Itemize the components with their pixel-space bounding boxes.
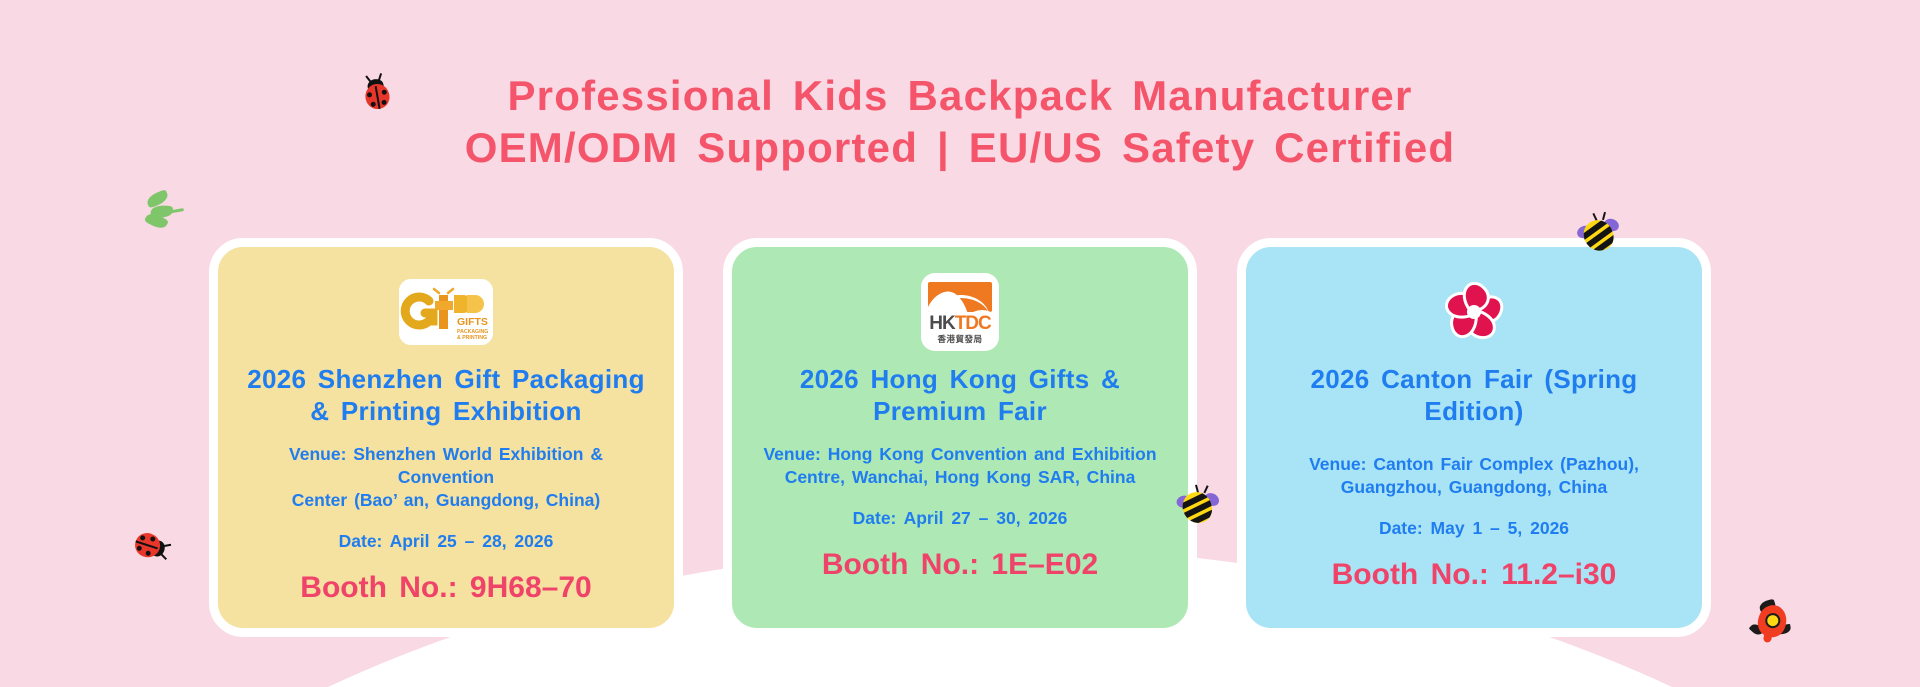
card-title-line-1: 2026 Canton Fair (Spring Edition)	[1311, 364, 1638, 426]
card-venue-line-2: Guangzhou, Guangdong, China	[1341, 477, 1607, 497]
card-venue-line-1: Venue: Hong Kong Convention and Exhibiti…	[763, 444, 1156, 464]
card-booth-number: Booth No.: 9H68–70	[300, 570, 591, 606]
card-date: Date: May 1 – 5, 2026	[1379, 517, 1569, 539]
canton-fair-flower-logo	[1436, 274, 1512, 350]
hktdc-mark	[928, 282, 992, 312]
logo-wrap: GIFTS PACKAGING & PRINTING	[399, 271, 493, 353]
card-title: 2026 Canton Fair (Spring Edition)	[1264, 363, 1684, 427]
page-title: Professional Kids Backpack Manufacturer …	[0, 70, 1920, 174]
bee-sticker-top-right	[1576, 212, 1620, 256]
card-title: 2026 Shenzhen Gift Packaging & Printing …	[239, 363, 653, 427]
exhibition-card-hong-kong[interactable]: HKTDC 香港貿發局 2026 Hong Kong Gifts & Premi…	[723, 238, 1197, 637]
card-title-line-2: & Printing Exhibition	[310, 396, 581, 426]
svg-text:& PRINTING: & PRINTING	[457, 335, 487, 341]
exhibition-card-list: GIFTS PACKAGING & PRINTING 2026 Shenzhen…	[0, 238, 1920, 637]
card-venue-line-2: Center (Bao’ an, Guangdong, China)	[292, 490, 600, 510]
logo-wrap	[1436, 271, 1512, 353]
card-booth-number: Booth No.: 11.2–i30	[1332, 557, 1617, 593]
hktdc-chinese-text: 香港貿發局	[937, 334, 982, 344]
card-venue: Venue: Canton Fair Complex (Pazhou), Gua…	[1305, 453, 1643, 499]
logo-wrap: HKTDC 香港貿發局	[921, 271, 999, 353]
card-title: 2026 Hong Kong Gifts & Premium Fair	[792, 363, 1128, 427]
poster-stage: Professional Kids Backpack Manufacturer …	[0, 0, 1920, 687]
svg-text:GIFTS: GIFTS	[457, 316, 488, 328]
card-booth-number: Booth No.: 1E–E02	[822, 547, 1098, 583]
card-date: Date: April 27 – 30, 2026	[853, 507, 1068, 529]
headline-line-1: Professional Kids Backpack Manufacturer	[0, 70, 1920, 122]
leaf-sticker-left	[143, 189, 188, 230]
card-date: Date: April 25 – 28, 2026	[339, 530, 554, 552]
card-venue: Venue: Shenzhen World Exhibition & Conve…	[236, 443, 656, 512]
ladybug-sticker-top-left	[359, 76, 394, 113]
gpp-gifts-packaging-printing-logo: GIFTS PACKAGING & PRINTING	[399, 279, 493, 345]
bee-sticker-middle	[1172, 481, 1223, 532]
hktdc-tdc-text: TDC	[955, 313, 991, 334]
card-title-line-1: 2026 Shenzhen Gift Packaging	[247, 364, 645, 394]
card-venue-line-1: Venue: Canton Fair Complex (Pazhou),	[1309, 454, 1639, 474]
hktdc-wordmark: HKTDC	[929, 314, 991, 334]
card-venue-line-1: Venue: Shenzhen World Exhibition & Conve…	[289, 444, 603, 487]
card-venue-line-2: Centre, Wanchai, Hong Kong SAR, China	[785, 467, 1136, 487]
hktdc-logo: HKTDC 香港貿發局	[921, 273, 999, 351]
card-title-line-1: 2026 Hong Kong Gifts &	[800, 364, 1120, 394]
rocket-sticker-right	[1746, 596, 1798, 648]
exhibition-card-canton[interactable]: 2026 Canton Fair (Spring Edition) Venue:…	[1237, 238, 1711, 637]
card-title-line-2: Premium Fair	[873, 396, 1047, 426]
headline-line-2: OEM/ODM Supported | EU/US Safety Certifi…	[0, 122, 1920, 174]
exhibition-card-shenzhen[interactable]: GIFTS PACKAGING & PRINTING 2026 Shenzhen…	[209, 238, 683, 637]
card-venue: Venue: Hong Kong Convention and Exhibiti…	[759, 443, 1160, 489]
hktdc-hk-text: HK	[929, 313, 954, 334]
